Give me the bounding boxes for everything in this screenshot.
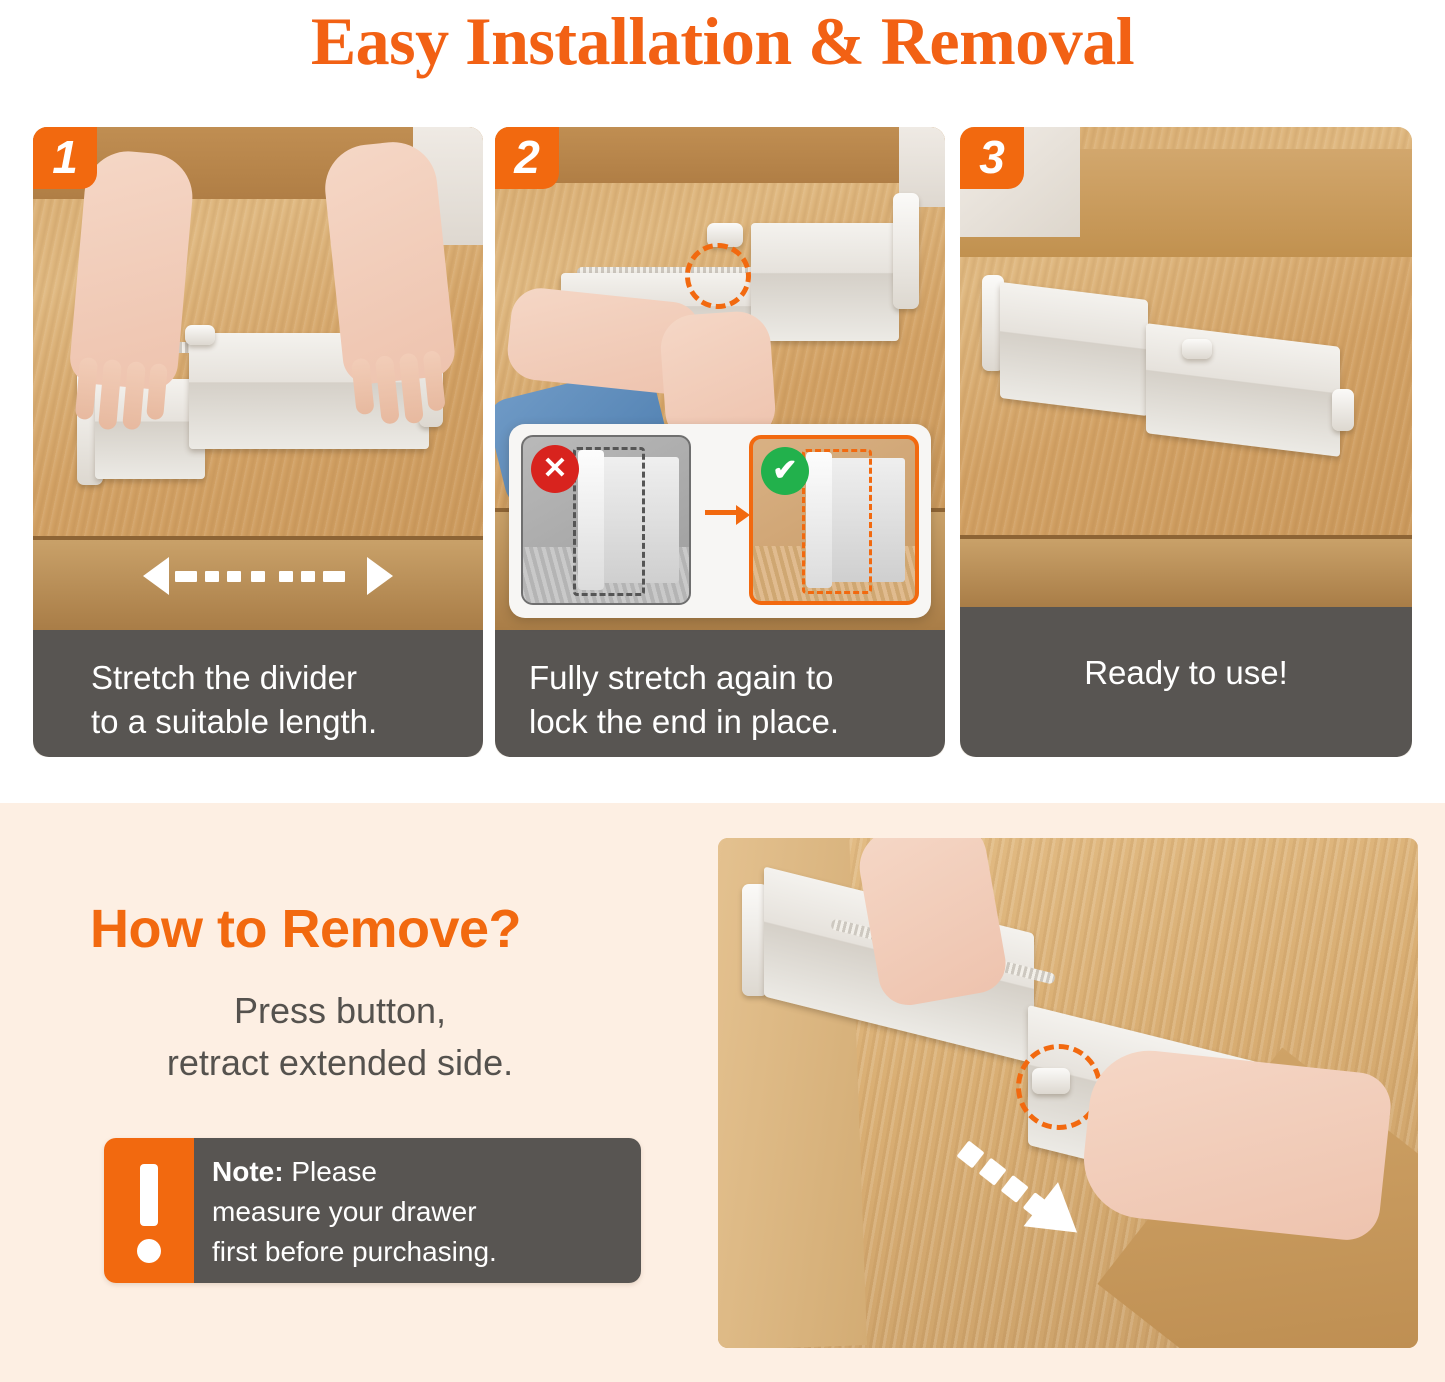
divider-right-end bbox=[893, 193, 919, 309]
removal-photo bbox=[718, 838, 1418, 1348]
inset-correct-example: ✔ bbox=[749, 435, 919, 605]
exclamation-bar bbox=[140, 1164, 158, 1226]
how-to-remove-subtitle: Press button, retract extended side. bbox=[30, 985, 650, 1089]
check-icon: ✔ bbox=[761, 447, 809, 495]
drawer-front-lip bbox=[960, 535, 1412, 609]
caption-line: Ready to use! bbox=[980, 651, 1392, 695]
divider-right-end bbox=[1332, 389, 1354, 431]
step-photo-3 bbox=[960, 127, 1412, 609]
removal-section: How to Remove? Press button, retract ext… bbox=[0, 803, 1445, 1382]
page-title: Easy Installation & Removal bbox=[0, 2, 1445, 82]
note-text: Note: Please measure your drawer first b… bbox=[194, 1138, 641, 1283]
step-photo-2: ✕ ✔ bbox=[495, 127, 945, 632]
divider-lock-clip bbox=[1182, 339, 1212, 359]
stretch-arrow-icon bbox=[143, 557, 393, 595]
caption-line: Fully stretch again to bbox=[529, 656, 925, 700]
note-line: measure your drawer bbox=[212, 1192, 625, 1232]
steps-row: 1 bbox=[33, 127, 1418, 757]
exclamation-dot bbox=[137, 1239, 161, 1263]
caption-line: lock the end in place. bbox=[529, 700, 925, 744]
drawer-back-wall bbox=[495, 127, 945, 183]
step-card-1: 1 bbox=[33, 127, 483, 757]
step-caption-2: Fully stretch again to lock the end in p… bbox=[495, 630, 945, 757]
right-hand bbox=[1078, 1045, 1394, 1243]
note-label: Note: bbox=[212, 1156, 284, 1187]
cross-icon: ✕ bbox=[531, 445, 579, 493]
divider-right-body bbox=[751, 223, 899, 341]
note-line: Note: Please bbox=[212, 1152, 625, 1192]
step-number-badge-3: 3 bbox=[960, 127, 1024, 189]
caption-line: Stretch the divider bbox=[91, 656, 463, 700]
arrow-head-left bbox=[143, 557, 169, 595]
note-line: first before purchasing. bbox=[212, 1232, 625, 1272]
step-caption-1: Stretch the divider to a suitable length… bbox=[33, 630, 483, 757]
arrow-right-icon bbox=[705, 510, 737, 515]
caption-line: to a suitable length. bbox=[91, 700, 463, 744]
installation-section: Easy Installation & Removal 1 bbox=[0, 0, 1445, 803]
divider-left-body bbox=[1000, 282, 1148, 416]
subtitle-line: retract extended side. bbox=[30, 1037, 650, 1089]
how-to-remove-title: How to Remove? bbox=[90, 898, 690, 960]
lock-comparison-inset: ✕ ✔ bbox=[509, 424, 931, 618]
dashed-outline bbox=[802, 449, 873, 594]
infographic-page: Easy Installation & Removal 1 bbox=[0, 0, 1445, 1382]
step-number-badge-1: 1 bbox=[33, 127, 97, 189]
step-caption-3: Ready to use! bbox=[960, 607, 1412, 757]
latch-highlight-circle-icon bbox=[685, 243, 751, 309]
note-box: Note: Please measure your drawer first b… bbox=[104, 1138, 641, 1283]
inset-incorrect-example: ✕ bbox=[521, 435, 691, 605]
subtitle-line: Press button, bbox=[30, 985, 650, 1037]
exclamation-icon bbox=[104, 1138, 194, 1283]
note-line-rest: Please bbox=[284, 1156, 377, 1187]
arrow-head-right bbox=[367, 557, 393, 595]
step-card-2: 2 bbox=[495, 127, 945, 757]
step-number-badge-2: 2 bbox=[495, 127, 559, 189]
step-card-3: 3 Ready to use! bbox=[960, 127, 1412, 757]
dashed-outline bbox=[573, 447, 645, 596]
divider-lock-clip bbox=[185, 325, 215, 345]
step-photo-1 bbox=[33, 127, 483, 632]
